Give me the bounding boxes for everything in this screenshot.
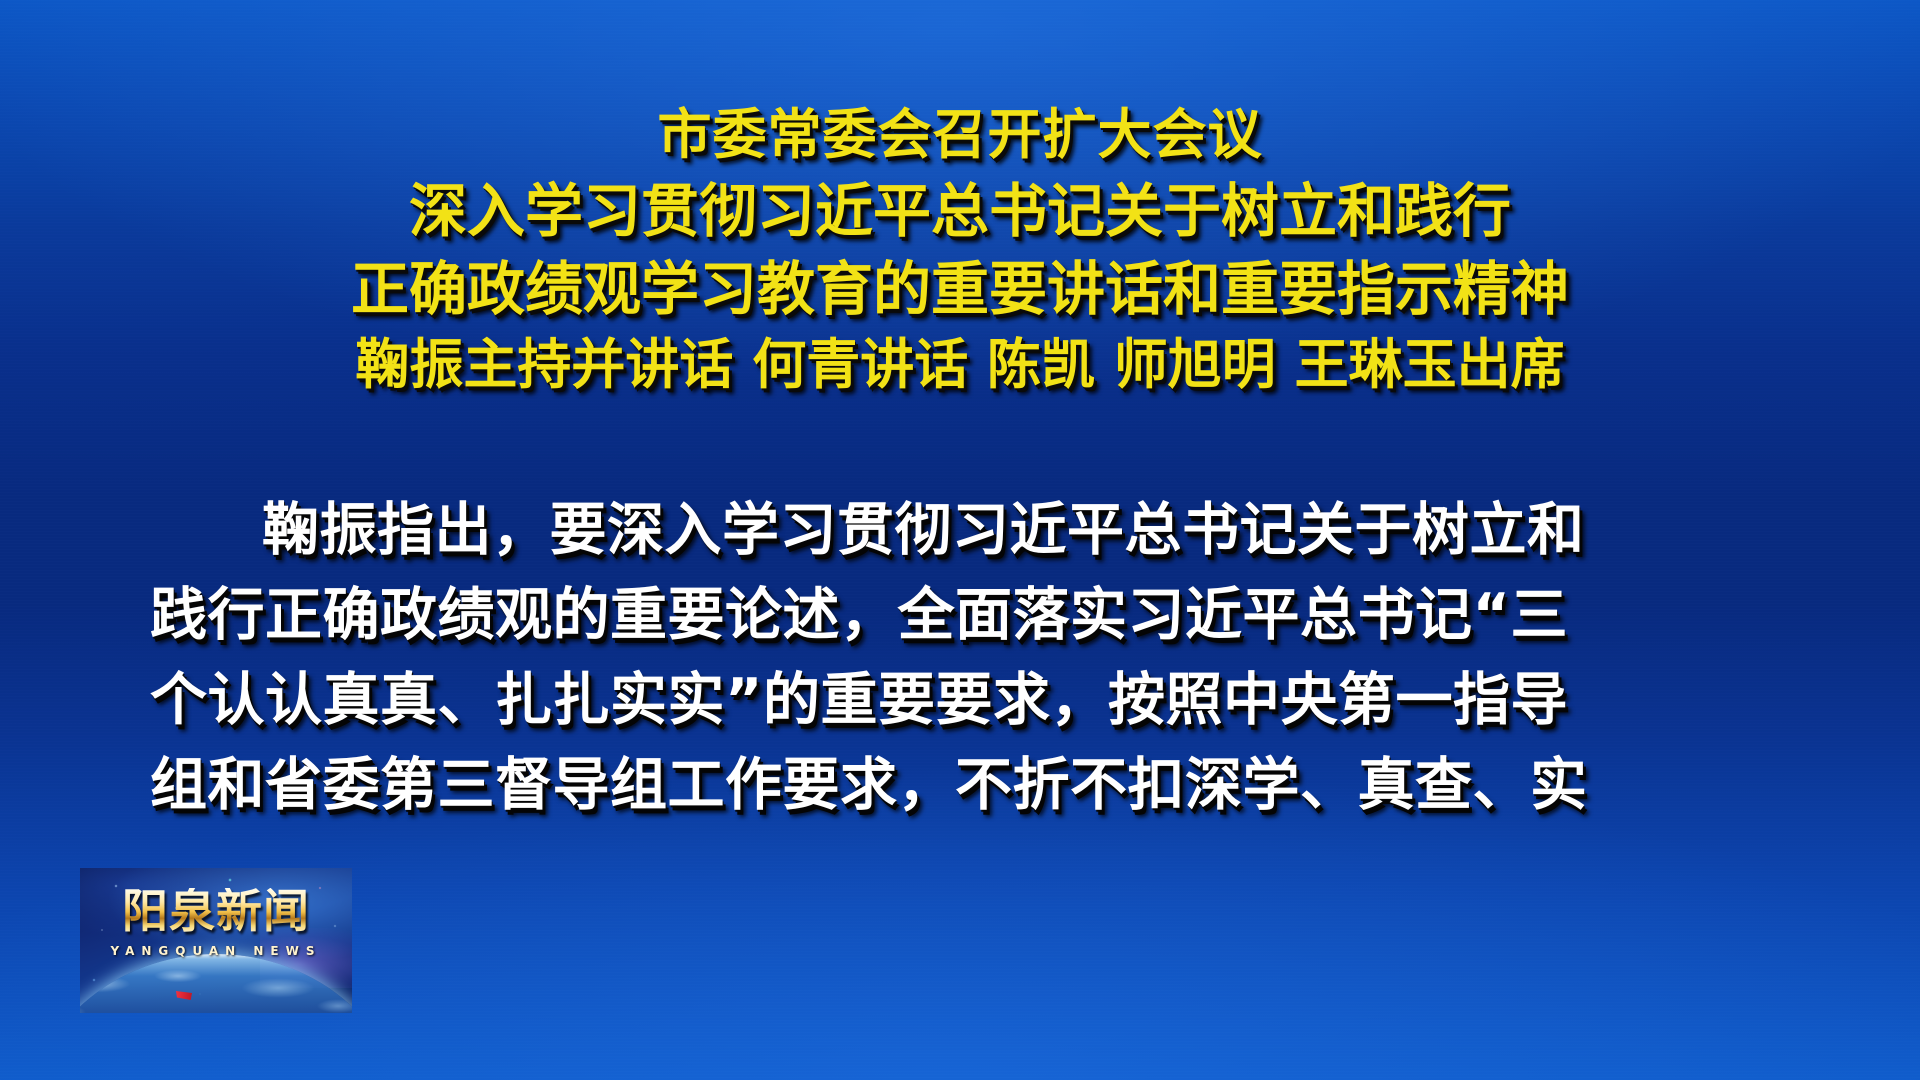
headline-line-2: 深入学习贯彻习近平总书记关于树立和践行 [0,182,1920,240]
body-line-2: 践行正确政绩观的重要论述，全面落实习近平总书记“三 [150,587,1770,644]
headline-line-1: 市委常委会召开扩大会议 [0,108,1920,162]
body-line-1: 鞠振指出，要深入学习贯彻习近平总书记关于树立和 [150,502,1770,559]
headline-line-4-attendees: 鞠振主持并讲话 何青讲话 陈凯 师旭明 王琳玉出席 [0,338,1920,392]
headline-block: 市委常委会召开扩大会议 深入学习贯彻习近平总书记关于树立和践行 正确政绩观学习教… [0,108,1920,392]
headline-line-3: 正确政绩观学习教育的重要讲话和重要指示精神 [0,260,1920,318]
station-logo-name-en: YANGQUAN NEWS [80,944,352,958]
station-logo-name-cn: 阳泉新闻 [80,888,352,934]
body-line-4: 组和省委第三督导组工作要求，不折不扣深学、真查、实 [150,757,1770,814]
station-logo: 阳泉新闻 YANGQUAN NEWS [80,868,352,1013]
body-line-3: 个认认真真、扎扎实实”的重要要求，按照中央第一指导 [150,672,1770,729]
broadcast-screen: 市委常委会召开扩大会议 深入学习贯彻习近平总书记关于树立和践行 正确政绩观学习教… [0,0,1920,1080]
body-text-block: 鞠振指出，要深入学习贯彻习近平总书记关于树立和 践行正确政绩观的重要论述，全面落… [150,502,1770,842]
